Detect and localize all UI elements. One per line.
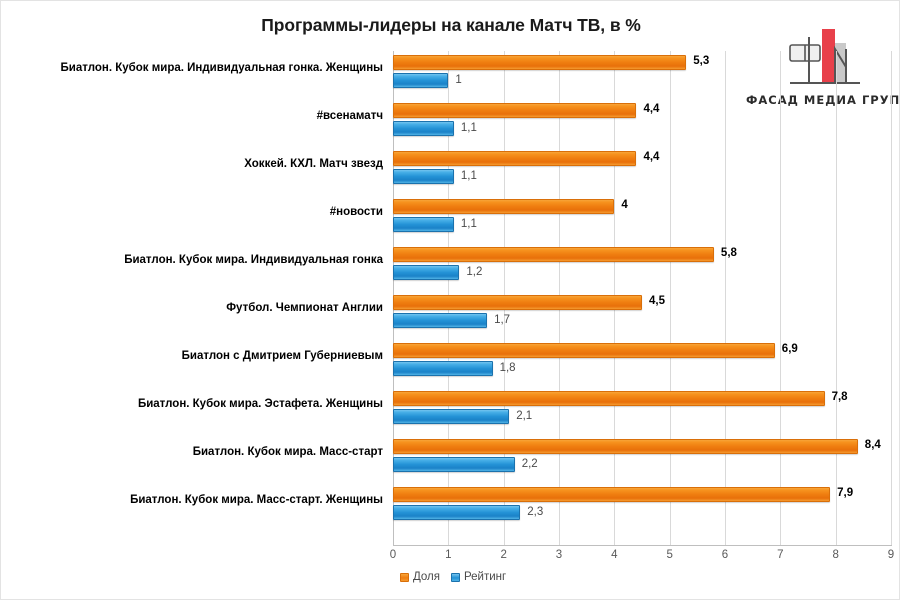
legend-swatch-rating-icon — [451, 573, 460, 582]
legend-label-rating: Рейтинг — [464, 571, 506, 583]
bar-share[interactable] — [393, 439, 858, 454]
x-tick-label: 2 — [489, 549, 519, 561]
bar-rating[interactable] — [393, 217, 454, 232]
chart-category-row: Хоккей. КХЛ. Матч звезд4,41,1 — [393, 147, 891, 195]
bar-share[interactable] — [393, 343, 775, 358]
legend-label-share: Доля — [413, 571, 440, 583]
bar-value-share: 4,5 — [649, 295, 665, 307]
bar-rating[interactable] — [393, 505, 520, 520]
bar-value-rating: 1,2 — [466, 266, 482, 278]
bar-share[interactable] — [393, 391, 825, 406]
bar-value-rating: 1,7 — [494, 314, 510, 326]
legend-swatch-share-icon — [400, 573, 409, 582]
gridline — [891, 51, 892, 545]
x-tick-label: 6 — [710, 549, 740, 561]
legend-item-rating[interactable]: Рейтинг — [451, 571, 506, 583]
bar-value-share: 4 — [621, 199, 627, 211]
bar-value-share: 5,3 — [693, 55, 709, 67]
bar-value-rating: 2,2 — [522, 458, 538, 470]
bar-rating[interactable] — [393, 409, 509, 424]
chart-container: Программы-лидеры на канале Матч ТВ, в % … — [0, 0, 900, 600]
category-label: #всенаматч — [9, 110, 383, 123]
category-label: #новости — [9, 206, 383, 219]
x-tick-label: 0 — [378, 549, 408, 561]
bar-value-rating: 1 — [455, 74, 461, 86]
bar-share[interactable] — [393, 55, 686, 70]
chart-category-row: Биатлон. Кубок мира. Индивидуальная гонк… — [393, 243, 891, 291]
x-tick-label: 3 — [544, 549, 574, 561]
bar-value-share: 4,4 — [643, 103, 659, 115]
chart-category-row: #новости41,1 — [393, 195, 891, 243]
chart-category-row: Биатлон. Кубок мира. Масс-старт. Женщины… — [393, 483, 891, 531]
bar-rating[interactable] — [393, 457, 515, 472]
bar-value-share: 5,8 — [721, 247, 737, 259]
bar-rating[interactable] — [393, 169, 454, 184]
bar-share[interactable] — [393, 247, 714, 262]
bar-value-share: 7,8 — [832, 391, 848, 403]
bar-value-rating: 1,1 — [461, 218, 477, 230]
x-tick-label: 8 — [821, 549, 851, 561]
bar-rating[interactable] — [393, 73, 448, 88]
chart-category-row: #всенаматч4,41,1 — [393, 99, 891, 147]
bar-value-share: 4,4 — [643, 151, 659, 163]
bar-share[interactable] — [393, 103, 636, 118]
chart-legend: Доля Рейтинг — [400, 571, 506, 583]
category-label: Биатлон. Кубок мира. Индивидуальная гонк… — [9, 254, 383, 267]
x-axis-ticks: 0123456789 — [393, 549, 893, 567]
category-label: Хоккей. КХЛ. Матч звезд — [9, 158, 383, 171]
plot-area: Биатлон. Кубок мира. Индивидуальная гонк… — [393, 51, 891, 545]
x-axis-line — [393, 545, 892, 546]
x-tick-label: 1 — [433, 549, 463, 561]
category-label: Биатлон с Дмитрием Губерниевым — [9, 350, 383, 363]
bar-rating[interactable] — [393, 361, 493, 376]
x-tick-label: 7 — [765, 549, 795, 561]
bar-share[interactable] — [393, 151, 636, 166]
chart-category-row: Биатлон. Кубок мира. Индивидуальная гонк… — [393, 51, 891, 99]
bar-rating[interactable] — [393, 313, 487, 328]
bar-share[interactable] — [393, 199, 614, 214]
chart-title: Программы-лидеры на канале Матч ТВ, в % — [141, 15, 761, 36]
chart-category-row: Футбол. Чемпионат Англии4,51,7 — [393, 291, 891, 339]
x-tick-label: 9 — [876, 549, 900, 561]
x-tick-label: 4 — [599, 549, 629, 561]
bar-value-rating: 1,1 — [461, 170, 477, 182]
category-label: Биатлон. Кубок мира. Эстафета. Женщины — [9, 398, 383, 411]
chart-category-row: Биатлон. Кубок мира. Эстафета. Женщины7,… — [393, 387, 891, 435]
bar-share[interactable] — [393, 295, 642, 310]
bar-rating[interactable] — [393, 265, 459, 280]
category-label: Биатлон. Кубок мира. Масс-старт. Женщины — [9, 494, 383, 507]
legend-item-share[interactable]: Доля — [400, 571, 440, 583]
category-label: Футбол. Чемпионат Англии — [9, 302, 383, 315]
category-label: Биатлон. Кубок мира. Масс-старт — [9, 446, 383, 459]
bar-value-share: 8,4 — [865, 439, 881, 451]
x-tick-label: 5 — [655, 549, 685, 561]
bar-value-share: 7,9 — [837, 487, 853, 499]
chart-category-row: Биатлон с Дмитрием Губерниевым6,91,8 — [393, 339, 891, 387]
bar-share[interactable] — [393, 487, 830, 502]
category-label: Биатлон. Кубок мира. Индивидуальная гонк… — [9, 62, 383, 75]
bar-value-rating: 1,1 — [461, 122, 477, 134]
bar-value-rating: 2,1 — [516, 410, 532, 422]
bar-value-rating: 2,3 — [527, 506, 543, 518]
bar-rating[interactable] — [393, 121, 454, 136]
bar-value-share: 6,9 — [782, 343, 798, 355]
bar-value-rating: 1,8 — [500, 362, 516, 374]
chart-category-row: Биатлон. Кубок мира. Масс-старт8,42,2 — [393, 435, 891, 483]
